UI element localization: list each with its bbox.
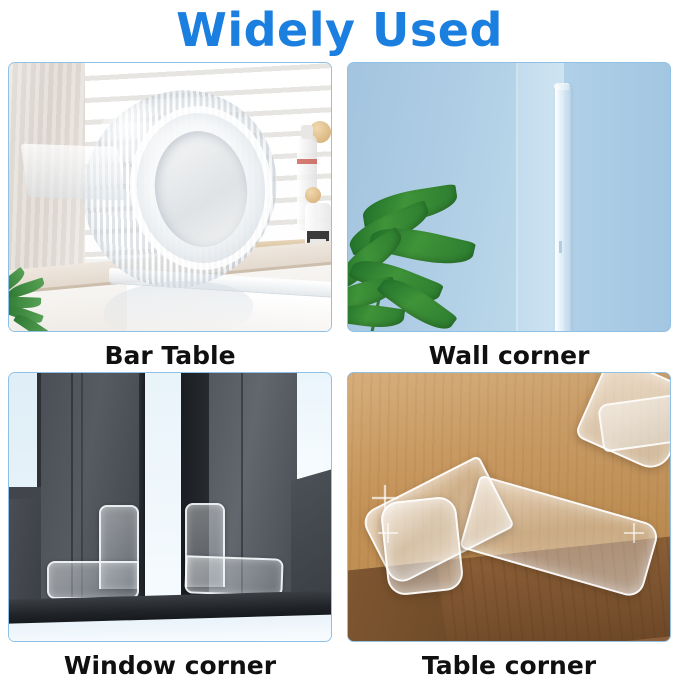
scenario-card-bar-table[interactable]: Bar Table (4, 62, 336, 376)
wall-face-right (564, 63, 670, 331)
scenario-card-table-corner[interactable]: Table corner (343, 372, 675, 686)
potted-plant (8, 275, 67, 331)
tape-roll-highlight (99, 101, 169, 171)
caption-window-corner: Window corner (4, 642, 336, 686)
tape-roll (83, 91, 277, 287)
sparkle-icon (378, 523, 398, 543)
caption-table-corner: Table corner (343, 642, 675, 686)
window-gap (145, 372, 183, 615)
decor-sphere-lower (305, 187, 321, 203)
caption-bar-table: Bar Table (4, 332, 336, 376)
window-corner-guard-right-horizontal-arm (184, 555, 283, 596)
wall-seam (516, 63, 518, 331)
scenario-card-wall-corner[interactable]: Wall corner (343, 62, 675, 376)
bottle-cap (301, 125, 313, 139)
bottle-band (297, 159, 317, 164)
window-glass-right (297, 372, 332, 479)
sparkle-icon (372, 485, 398, 511)
sparkle-icon (624, 523, 644, 543)
potted-plant (347, 191, 482, 331)
photo-wall-corner (347, 62, 671, 332)
window-pane-diagonal (291, 465, 332, 611)
wall-corner-guard-strip (555, 85, 571, 331)
page-title: Widely Used (0, 2, 679, 58)
caption-wall-corner: Wall corner (343, 332, 675, 376)
window-corner-guard-left-horizontal-arm (47, 561, 139, 599)
corner-guard-seam-mark (559, 241, 562, 253)
photo-table-corner (347, 372, 671, 642)
photo-window-corner (8, 372, 332, 642)
window-sill-body (9, 499, 41, 603)
usage-scenario-grid: Bar Table (0, 62, 679, 676)
photo-bar-table (8, 62, 332, 332)
scenario-card-window-corner[interactable]: Window corner (4, 372, 336, 686)
widely-used-infographic: Widely Used (0, 0, 679, 676)
